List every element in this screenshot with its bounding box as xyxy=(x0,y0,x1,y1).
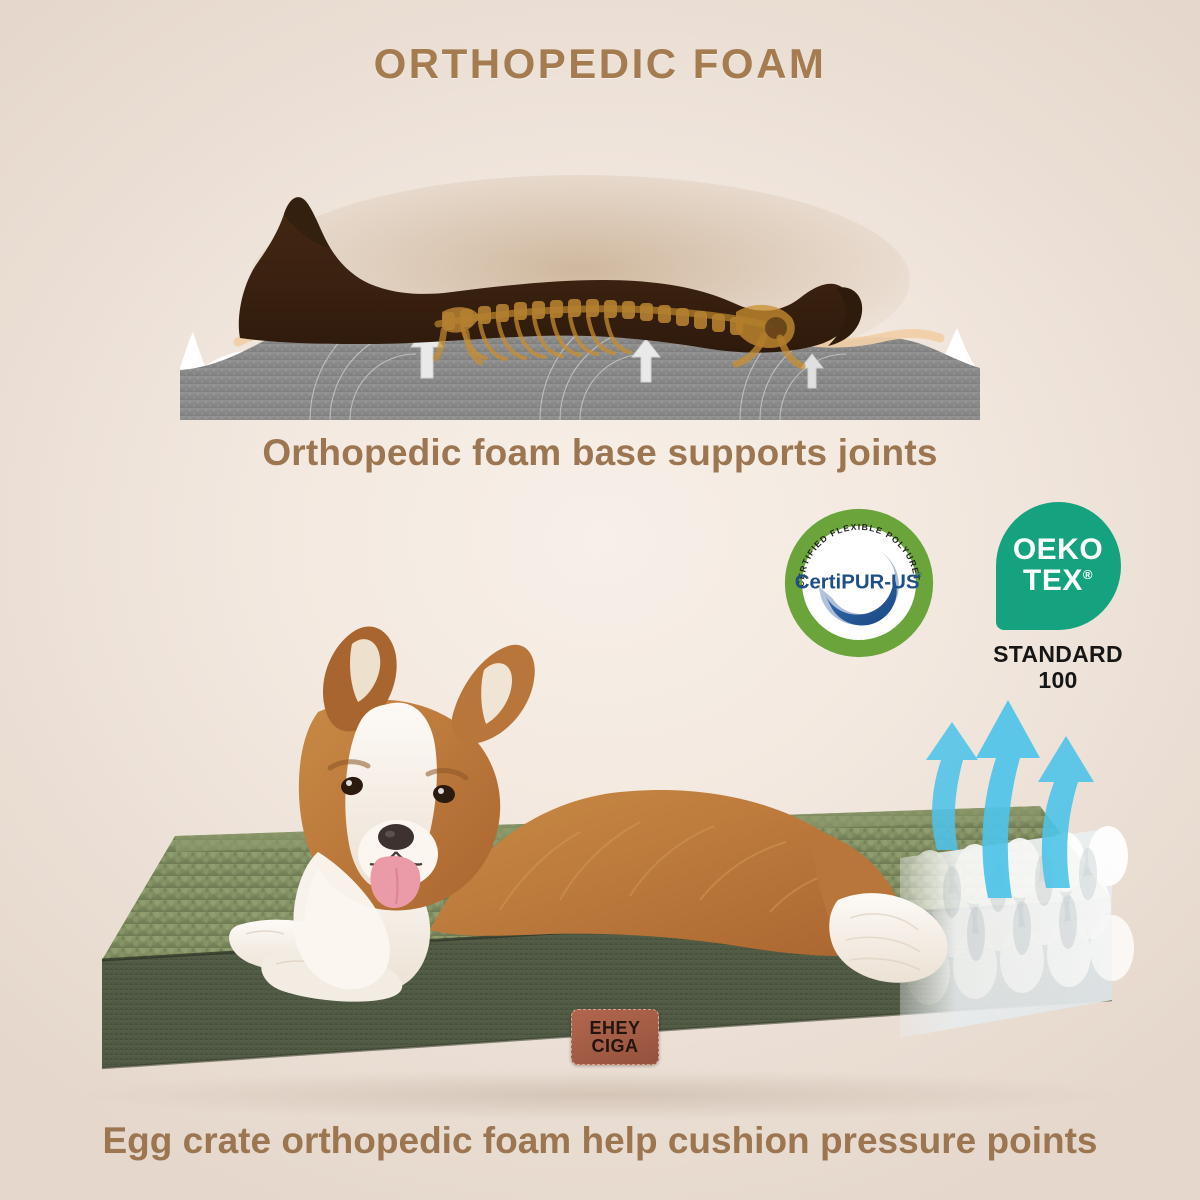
brand-line-2: CIGA xyxy=(592,1037,639,1055)
caption-egg-crate: Egg crate orthopedic foam help cushion p… xyxy=(0,1120,1200,1162)
page-title: ORTHOPEDIC FOAM xyxy=(0,40,1200,88)
brand-label-patch: EHEY CIGA xyxy=(571,1009,659,1065)
brand-line-1: EHEY xyxy=(589,1019,640,1037)
certipur-wordmark: CertiPUR-US xyxy=(795,572,920,594)
oeko-line2: TEX® xyxy=(1023,566,1093,597)
infographic-canvas: ORTHOPEDIC FOAM xyxy=(0,0,1200,1200)
certipur-registered-mark: ® xyxy=(916,570,922,579)
bed-shadow xyxy=(80,1069,1120,1120)
oeko-registered-mark: ® xyxy=(1083,567,1093,582)
caption-orthopedic-support: Orthopedic foam base supports joints xyxy=(0,432,1200,474)
orthopedic-foam-diagram xyxy=(180,160,980,422)
dog-nose xyxy=(378,824,414,850)
oeko-line1: OEKO xyxy=(1013,535,1103,566)
